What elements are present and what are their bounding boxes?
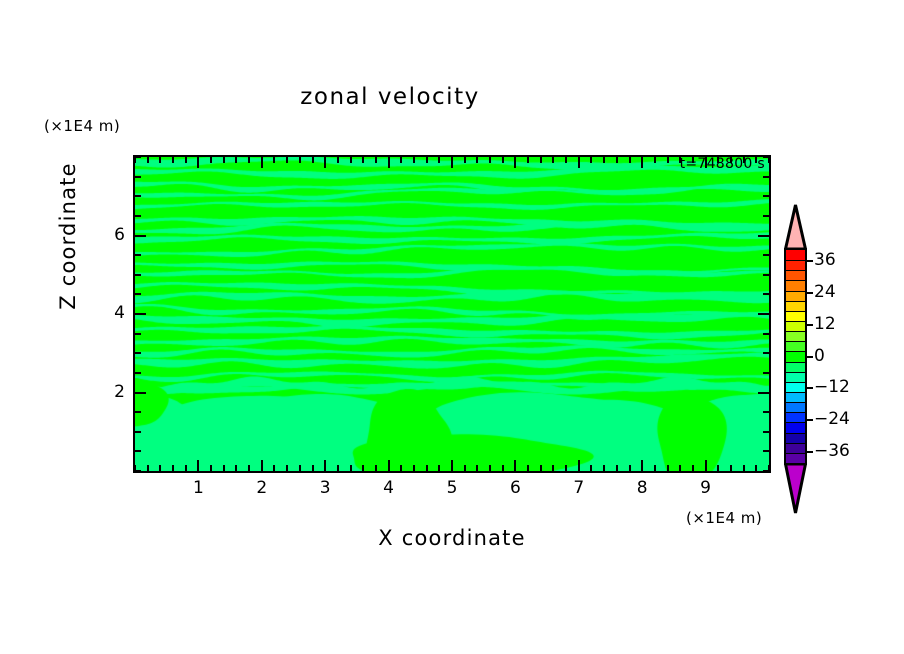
colorbar-tick-label: 36 xyxy=(814,250,836,270)
colorbar-under-cap xyxy=(784,464,807,515)
y-tick-minor xyxy=(763,431,769,433)
colorbar-tick-mark xyxy=(807,387,813,389)
x-tick-minor xyxy=(210,465,212,471)
y-tick-minor xyxy=(135,254,141,256)
colorbar-band-separator xyxy=(786,321,805,322)
x-tick-minor xyxy=(337,465,339,471)
colorbar-tick-label: −24 xyxy=(814,409,850,429)
x-tick-minor xyxy=(426,157,428,163)
x-tick-minor xyxy=(540,157,542,163)
colorbar-band-separator xyxy=(786,301,805,302)
y-tick-major xyxy=(758,313,769,315)
y-tick-minor xyxy=(763,195,769,197)
x-tick-minor xyxy=(667,465,669,471)
x-tick-minor xyxy=(223,465,225,471)
colorbar-tick-mark xyxy=(807,419,813,421)
x-tick-major xyxy=(197,157,199,168)
y-tick-minor xyxy=(135,450,141,452)
colorbar-band-separator xyxy=(786,382,805,383)
colorbar-band-separator xyxy=(786,260,805,261)
x-tick-minor xyxy=(603,465,605,471)
x-tick-minor xyxy=(223,157,225,163)
x-tick-minor xyxy=(375,157,377,163)
colorbar-band-separator xyxy=(786,351,805,352)
x-tick-minor xyxy=(375,465,377,471)
y-tick-minor xyxy=(135,470,141,472)
x-tick-minor xyxy=(312,157,314,163)
y-tick-minor xyxy=(135,352,141,354)
x-tick-minor xyxy=(438,465,440,471)
x-tick-major xyxy=(388,460,390,471)
colorbar-tick-mark xyxy=(807,292,813,294)
x-tick-minor xyxy=(629,157,631,163)
x-tick-minor xyxy=(603,157,605,163)
x-tick-major xyxy=(261,460,263,471)
x-tick-minor xyxy=(616,465,618,471)
colorbar-tick-label: 0 xyxy=(814,346,825,366)
x-tick-minor xyxy=(476,465,478,471)
x-tick-label: 4 xyxy=(369,478,409,498)
colorbar-band xyxy=(786,362,805,373)
x-tick-minor xyxy=(185,465,187,471)
x-tick-minor xyxy=(489,157,491,163)
x-axis-units-label: (×1E4 m) xyxy=(686,509,762,527)
x-tick-label: 6 xyxy=(495,478,535,498)
contour-plot-area: t=748800 s xyxy=(133,155,771,473)
time-annotation: t=748800 s xyxy=(680,156,765,172)
x-tick-minor xyxy=(654,157,656,163)
x-tick-minor xyxy=(464,157,466,163)
x-tick-minor xyxy=(565,465,567,471)
x-tick-minor xyxy=(312,465,314,471)
x-tick-minor xyxy=(337,157,339,163)
x-tick-minor xyxy=(616,157,618,163)
x-tick-minor xyxy=(159,465,161,471)
x-tick-minor xyxy=(629,465,631,471)
colorbar-band-separator xyxy=(786,433,805,434)
x-tick-major xyxy=(514,460,516,471)
colorbar-band xyxy=(786,311,805,322)
y-tick-minor xyxy=(763,274,769,276)
x-tick-minor xyxy=(540,465,542,471)
x-tick-minor xyxy=(286,157,288,163)
x-tick-label: 9 xyxy=(686,478,726,498)
x-tick-minor xyxy=(299,157,301,163)
colorbar-bands xyxy=(784,248,807,465)
x-tick-minor xyxy=(413,465,415,471)
x-tick-minor xyxy=(185,157,187,163)
x-tick-major xyxy=(388,157,390,168)
x-tick-minor xyxy=(147,157,149,163)
colorbar-band-separator xyxy=(786,443,805,444)
x-tick-major xyxy=(324,157,326,168)
x-tick-minor xyxy=(159,157,161,163)
x-tick-label: 3 xyxy=(305,478,345,498)
y-tick-major xyxy=(135,392,146,394)
figure-canvas: zonal velocity (×1E4 m) (×1E4 m) Z coord… xyxy=(0,0,904,654)
y-tick-minor xyxy=(135,156,141,158)
colorbar-band-separator xyxy=(786,402,805,403)
x-tick-minor xyxy=(362,157,364,163)
x-tick-minor xyxy=(147,465,149,471)
colorbar-tick-mark xyxy=(807,260,813,262)
y-tick-label: 6 xyxy=(85,225,125,245)
x-tick-minor xyxy=(400,465,402,471)
colorbar-tick-label: 24 xyxy=(814,282,836,302)
x-tick-minor xyxy=(172,157,174,163)
y-tick-minor xyxy=(135,431,141,433)
x-tick-major xyxy=(451,157,453,168)
y-tick-minor xyxy=(135,195,141,197)
colorbar-band xyxy=(786,382,805,393)
x-axis-title: X coordinate xyxy=(133,526,771,550)
y-tick-major xyxy=(758,392,769,394)
x-tick-minor xyxy=(755,465,757,471)
colorbar-band xyxy=(786,351,805,362)
x-tick-minor xyxy=(717,465,719,471)
x-tick-major xyxy=(324,460,326,471)
y-tick-major xyxy=(758,235,769,237)
x-tick-minor xyxy=(552,465,554,471)
y-tick-minor xyxy=(135,215,141,217)
x-tick-label: 1 xyxy=(178,478,218,498)
colorbar-band xyxy=(786,291,805,302)
x-tick-minor xyxy=(426,465,428,471)
x-tick-minor xyxy=(502,157,504,163)
colorbar-band-separator xyxy=(786,291,805,292)
x-tick-major xyxy=(197,460,199,471)
colorbar-band-separator xyxy=(786,270,805,271)
x-tick-minor xyxy=(692,465,694,471)
y-tick-minor xyxy=(763,470,769,472)
x-tick-minor xyxy=(299,465,301,471)
y-tick-minor xyxy=(763,450,769,452)
y-tick-label: 4 xyxy=(85,303,125,323)
x-tick-minor xyxy=(489,465,491,471)
colorbar-band-separator xyxy=(786,280,805,281)
x-tick-minor xyxy=(667,157,669,163)
x-tick-label: 5 xyxy=(432,478,472,498)
x-tick-minor xyxy=(400,157,402,163)
x-tick-label: 8 xyxy=(622,478,662,498)
colorbar-band xyxy=(786,443,805,454)
colorbar-tick-mark xyxy=(807,324,813,326)
x-tick-major xyxy=(641,157,643,168)
x-tick-major xyxy=(261,157,263,168)
colorbar-tick-label: 12 xyxy=(814,314,836,334)
colorbar-tick-mark xyxy=(807,451,813,453)
colorbar-band-separator xyxy=(786,392,805,393)
colorbar-band-separator xyxy=(786,422,805,423)
x-tick-minor xyxy=(743,465,745,471)
y-tick-major xyxy=(135,235,146,237)
x-tick-minor xyxy=(552,157,554,163)
x-tick-major xyxy=(578,157,580,168)
colorbar-band xyxy=(786,422,805,433)
y-tick-minor xyxy=(763,254,769,256)
x-tick-minor xyxy=(590,157,592,163)
x-tick-minor xyxy=(413,157,415,163)
y-tick-minor xyxy=(135,411,141,413)
x-tick-major xyxy=(451,460,453,471)
colorbar-band-separator xyxy=(786,453,805,454)
x-tick-minor xyxy=(286,465,288,471)
colorbar-band-separator xyxy=(786,362,805,363)
colorbar-tick-label: −36 xyxy=(814,441,850,461)
colorbar-over-cap xyxy=(784,203,807,249)
x-tick-minor xyxy=(273,465,275,471)
x-tick-minor xyxy=(464,465,466,471)
x-tick-major xyxy=(705,460,707,471)
x-tick-minor xyxy=(502,465,504,471)
colorbar-band xyxy=(786,372,805,383)
y-tick-major xyxy=(135,313,146,315)
y-tick-minor xyxy=(135,176,141,178)
colorbar-band-separator xyxy=(786,311,805,312)
x-tick-major xyxy=(514,157,516,168)
x-tick-minor xyxy=(273,157,275,163)
y-tick-minor xyxy=(135,293,141,295)
colorbar-tick-mark xyxy=(807,356,813,358)
x-tick-minor xyxy=(362,465,364,471)
y-tick-minor xyxy=(135,274,141,276)
colorbar-band-separator xyxy=(786,372,805,373)
x-tick-minor xyxy=(235,157,237,163)
x-tick-minor xyxy=(565,157,567,163)
colorbar-band xyxy=(786,280,805,291)
y-axis-units-label: (×1E4 m) xyxy=(44,117,120,135)
x-tick-minor xyxy=(527,157,529,163)
y-tick-minor xyxy=(763,176,769,178)
colorbar-band-separator xyxy=(786,412,805,413)
x-tick-label: 2 xyxy=(242,478,282,498)
x-tick-minor xyxy=(679,465,681,471)
colorbar-band-separator xyxy=(786,331,805,332)
colorbar: 3624120−12−24−36 xyxy=(782,203,900,515)
y-tick-minor xyxy=(763,352,769,354)
x-tick-minor xyxy=(210,157,212,163)
y-tick-minor xyxy=(763,215,769,217)
y-tick-label: 2 xyxy=(85,382,125,402)
y-tick-minor xyxy=(135,372,141,374)
x-tick-minor xyxy=(235,465,237,471)
x-tick-minor xyxy=(350,465,352,471)
colorbar-band xyxy=(786,301,805,312)
x-tick-major xyxy=(641,460,643,471)
cap-shape xyxy=(784,203,807,249)
page-title: zonal velocity xyxy=(0,84,780,110)
y-tick-minor xyxy=(763,333,769,335)
x-tick-major xyxy=(578,460,580,471)
x-tick-label: 7 xyxy=(559,478,599,498)
x-tick-minor xyxy=(248,157,250,163)
x-tick-minor xyxy=(730,465,732,471)
y-axis-title: Z coordinate xyxy=(56,146,80,326)
contour-field xyxy=(135,157,769,471)
colorbar-tick-label: −12 xyxy=(814,377,850,397)
x-tick-minor xyxy=(476,157,478,163)
y-tick-minor xyxy=(763,372,769,374)
colorbar-band xyxy=(786,433,805,444)
x-tick-minor xyxy=(590,465,592,471)
y-tick-minor xyxy=(135,333,141,335)
x-tick-minor xyxy=(172,465,174,471)
y-tick-minor xyxy=(763,411,769,413)
colorbar-band-separator xyxy=(786,341,805,342)
y-tick-minor xyxy=(763,293,769,295)
x-tick-minor xyxy=(248,465,250,471)
x-tick-minor xyxy=(350,157,352,163)
x-tick-minor xyxy=(654,465,656,471)
cap-shape xyxy=(784,464,807,515)
x-tick-minor xyxy=(438,157,440,163)
colorbar-band xyxy=(786,453,805,464)
x-tick-minor xyxy=(527,465,529,471)
